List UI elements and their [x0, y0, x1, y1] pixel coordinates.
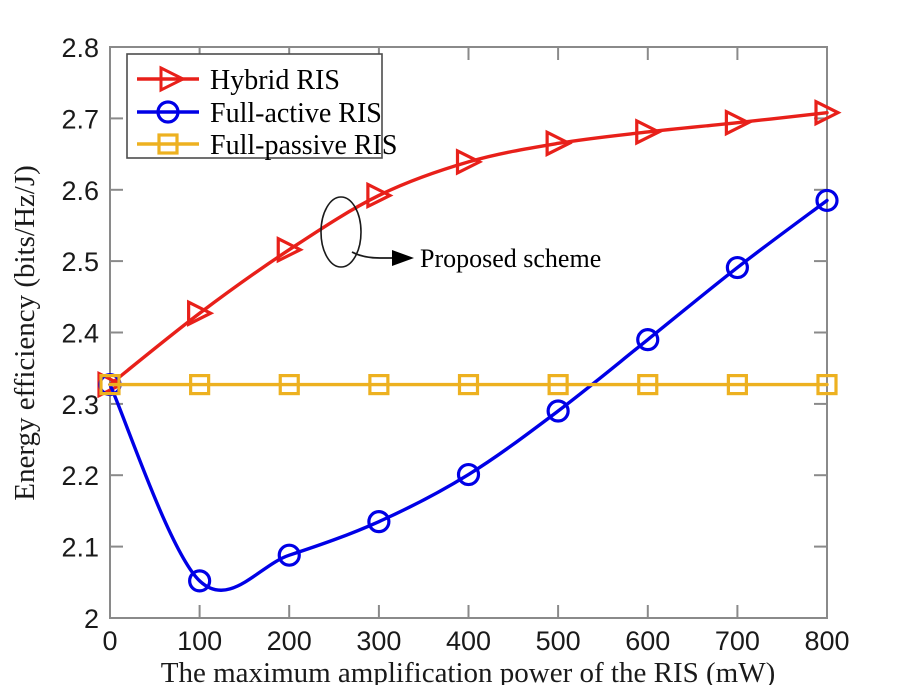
legend[interactable]: Hybrid RIS Full-active RIS Full-passive … — [127, 54, 397, 161]
legend-label-full-passive-ris: Full-passive RIS — [210, 130, 397, 161]
x-tick-label-200: 200 — [267, 626, 312, 656]
x-tick-label-600: 600 — [625, 626, 670, 656]
annotation-ellipse-marker — [321, 197, 361, 267]
annotation-arrow-line — [352, 252, 394, 258]
x-tick-label-400: 400 — [446, 626, 491, 656]
y-axis-title: Energy efficiency (bits/Hz/J) — [9, 165, 41, 501]
y-tick-label-2.8: 2.8 — [61, 33, 99, 63]
annotation-text: Proposed scheme — [420, 244, 601, 273]
y-tick-label-2.7: 2.7 — [61, 104, 99, 134]
chart-canvas: 0 100 200 300 400 500 600 700 800 2 2.1 … — [0, 0, 913, 685]
y-tick-label-2.6: 2.6 — [61, 176, 99, 206]
y-tick-label-2.4: 2.4 — [61, 319, 99, 349]
x-tick-label-800: 800 — [804, 626, 849, 656]
energy-efficiency-chart-figure: 0 100 200 300 400 500 600 700 800 2 2.1 … — [0, 0, 913, 685]
y-tick-label-2.1: 2.1 — [61, 533, 99, 563]
legend-label-hybrid-ris: Hybrid RIS — [210, 65, 340, 96]
y-tick-label-2.5: 2.5 — [61, 247, 99, 277]
x-tick-label-700: 700 — [715, 626, 760, 656]
series-layer — [99, 102, 838, 591]
y-tick-label-2.3: 2.3 — [61, 390, 99, 420]
x-tick-label-0: 0 — [102, 626, 117, 656]
x-tick-labels: 0 100 200 300 400 500 600 700 800 — [102, 626, 849, 656]
x-tick-label-100: 100 — [177, 626, 222, 656]
x-tick-label-300: 300 — [356, 626, 401, 656]
y-tick-labels: 2 2.1 2.2 2.3 2.4 2.5 2.6 2.7 2.8 — [61, 33, 99, 634]
annotation-arrow-head — [392, 250, 414, 266]
x-axis-title: The maximum amplification power of the R… — [161, 657, 775, 685]
series-full-passive-ris — [101, 376, 836, 394]
x-tick-label-500: 500 — [536, 626, 581, 656]
legend-label-full-active-ris: Full-active RIS — [210, 98, 382, 129]
y-tick-label-2.2: 2.2 — [61, 461, 99, 491]
proposed-scheme-annotation: Proposed scheme — [321, 197, 601, 273]
y-tick-label-2: 2 — [84, 604, 99, 634]
